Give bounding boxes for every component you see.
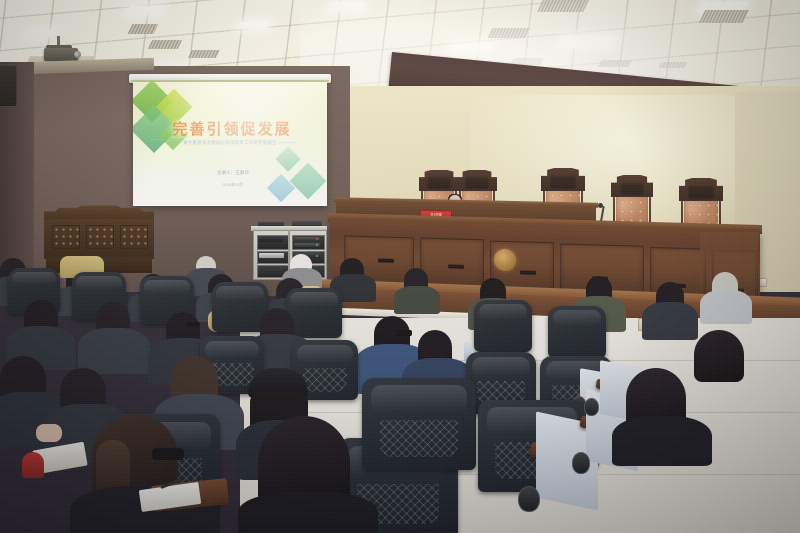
chair-crown-inlay [549, 175, 577, 190]
ceiling-vent [188, 50, 220, 58]
seat-highlight [12, 272, 56, 286]
bench-hardware [448, 264, 464, 268]
audience-torso [642, 302, 698, 340]
hand [36, 424, 62, 442]
bench-hardware [378, 258, 394, 262]
status-led-icon [316, 255, 318, 257]
rack-device [259, 237, 283, 242]
projector-lens-icon [74, 51, 81, 58]
lecture-hall-photo: 完善引领促发展 ———— 关于推进法治建设与司法改革工作的专题报告 ———— 主… [0, 0, 800, 533]
eyeglasses-icon [396, 330, 412, 336]
chair-crown-inlay [464, 176, 490, 190]
ceiling-light [22, 30, 55, 37]
slide-date: 2018年12月 [173, 182, 293, 188]
audience-torso [78, 328, 150, 374]
slide-diamond-icon [290, 163, 327, 200]
wall-speaker-icon [0, 66, 17, 106]
auditorium-seat[interactable] [548, 306, 606, 358]
red-item [22, 452, 44, 478]
seat-highlight [479, 304, 528, 320]
auditorium-seat[interactable] [474, 300, 532, 352]
bench-panel [120, 225, 148, 249]
seat-highlight [216, 286, 263, 301]
audience-head [694, 330, 744, 382]
seat-cup-holder [572, 452, 590, 474]
slide-presenter: 主讲人：王静华 [173, 170, 293, 176]
slide-diamond-icon [275, 146, 300, 171]
audience-torso [700, 290, 752, 324]
chair-crown-inlay [687, 185, 715, 200]
rack-device [259, 253, 284, 258]
seat-highlight [371, 385, 467, 413]
seat-highlight [553, 310, 602, 326]
chair-crown-inlay [619, 182, 646, 197]
bench-hardware [520, 270, 536, 274]
audience-torso [612, 416, 712, 466]
status-led-icon [316, 238, 318, 240]
auditorium-seat[interactable] [362, 378, 476, 470]
seat-highlight [205, 341, 259, 358]
ceiling-vent [148, 40, 182, 49]
ceiling-light [236, 22, 269, 29]
seat-mesh-pocket [303, 368, 348, 392]
slide-subtitle: ———— 关于推进法治建设与司法改革工作的专题报告 ———— [143, 140, 317, 146]
seat-highlight [144, 280, 189, 294]
seat-highlight [297, 345, 352, 363]
audience-torso [394, 286, 440, 314]
seat-highlight [472, 357, 531, 376]
auditorium-seat[interactable] [286, 288, 342, 338]
ceiling-light [126, 6, 164, 14]
projection-screen: 完善引领促发展 ———— 关于推进法治建设与司法改革工作的专题报告 ———— 主… [133, 82, 327, 206]
seat-mesh-pocket [380, 420, 458, 457]
projector-icon [44, 48, 78, 61]
national-emblem-icon [494, 249, 516, 272]
eyeglasses-icon [186, 322, 200, 327]
audience-torso [238, 492, 378, 533]
microphone-icon [598, 203, 603, 208]
bench-panel [52, 225, 80, 249]
seat-highlight [76, 276, 121, 290]
seat-cup-holder [518, 486, 540, 512]
seat-cup-holder [584, 398, 599, 416]
status-led-icon [316, 244, 318, 246]
bench-panel [86, 225, 114, 249]
slide-title: 完善引领促发展 [157, 118, 307, 139]
eyeglasses-icon [152, 448, 184, 460]
chair-crown-inlay [426, 176, 452, 190]
ceiling-vent [128, 24, 159, 34]
seat-highlight [290, 292, 337, 307]
